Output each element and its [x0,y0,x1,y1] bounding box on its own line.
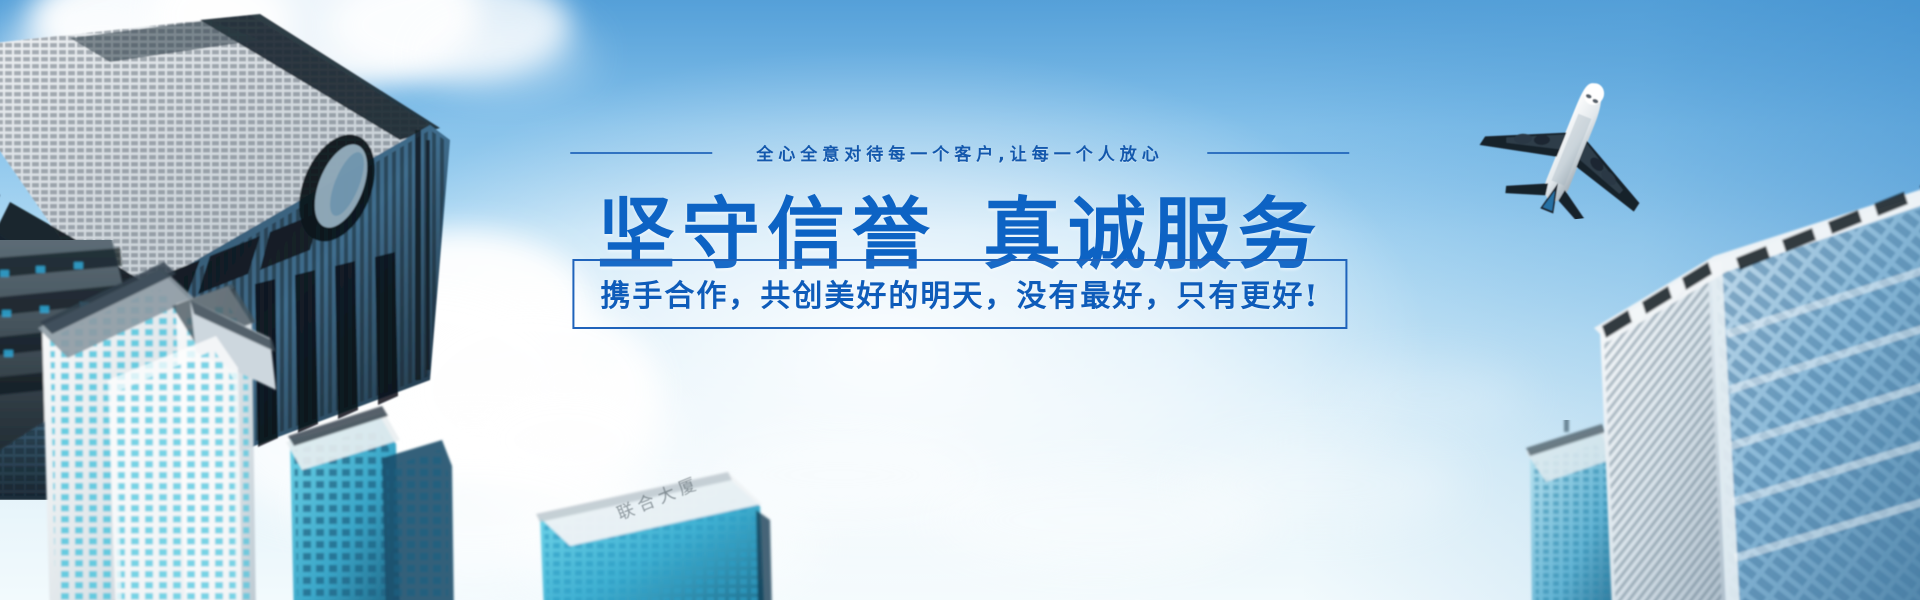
cloud-shape [1330,360,1530,430]
hero-banner: 联合大厦 [0,0,1920,600]
airplane-icon [1471,64,1675,228]
left-building-cluster [0,240,550,600]
united-building: 联合大厦 [530,470,790,600]
cloud-shape [1180,440,1460,530]
